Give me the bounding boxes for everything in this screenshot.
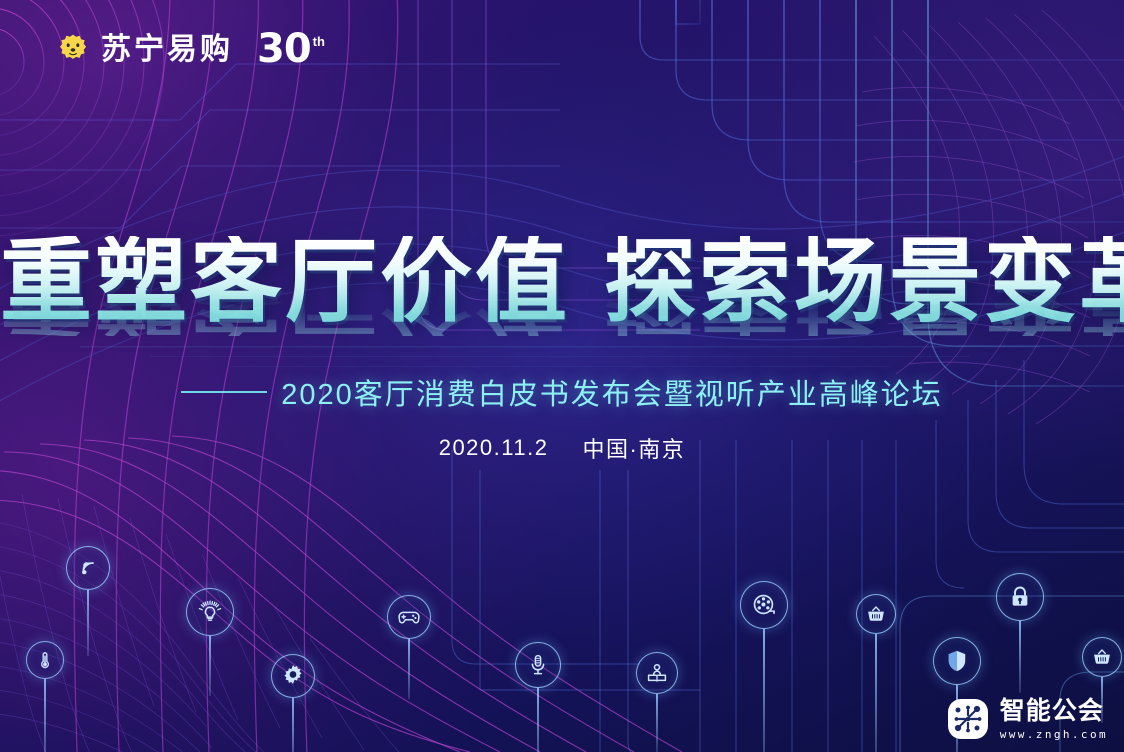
- headline-part-1: 重塑客厅价值: [0, 231, 570, 333]
- watermark-url: www.zngh.com: [1000, 729, 1108, 740]
- event-location: 中国·南京: [582, 432, 685, 464]
- circuit-chip-icon: [945, 696, 991, 742]
- subtitle-row: 2020客厅消费白皮书发布会暨视听产业高峰论坛: [0, 371, 1124, 413]
- headline-block: 重塑客厅价值探索场景变革 重塑客厅价值探索场景变革: [0, 236, 1124, 328]
- anniversary-number: 30: [257, 32, 311, 67]
- event-meta-row: 2020.11.2 中国·南京: [0, 432, 1124, 464]
- brand-name: 苏宁易购: [101, 35, 233, 65]
- lion-mascot-icon: [56, 33, 90, 67]
- brand-logo: 苏宁易购 30 th: [56, 32, 325, 67]
- anniversary-badge: 30 th: [257, 32, 325, 67]
- site-watermark: 智能公会 www.zngh.com: [945, 696, 1108, 742]
- watermark-name: 智能公会: [1000, 699, 1108, 724]
- event-date: 2020.11.2: [439, 435, 549, 461]
- anniversary-suffix: th: [313, 34, 325, 49]
- page-title: 重塑客厅价值探索场景变革: [0, 236, 1124, 328]
- headline-part-2: 探索场景变革: [604, 231, 1124, 333]
- subtitle-text: 2020客厅消费白皮书发布会暨视听产业高峰论坛: [281, 371, 943, 413]
- subtitle-rule: [181, 391, 267, 393]
- event-poster: 苏宁易购 30 th 重塑客厅价值探索场景变革 重塑客厅价值探索场景变革 202…: [0, 0, 1124, 752]
- watermark-text: 智能公会 www.zngh.com: [1000, 699, 1108, 740]
